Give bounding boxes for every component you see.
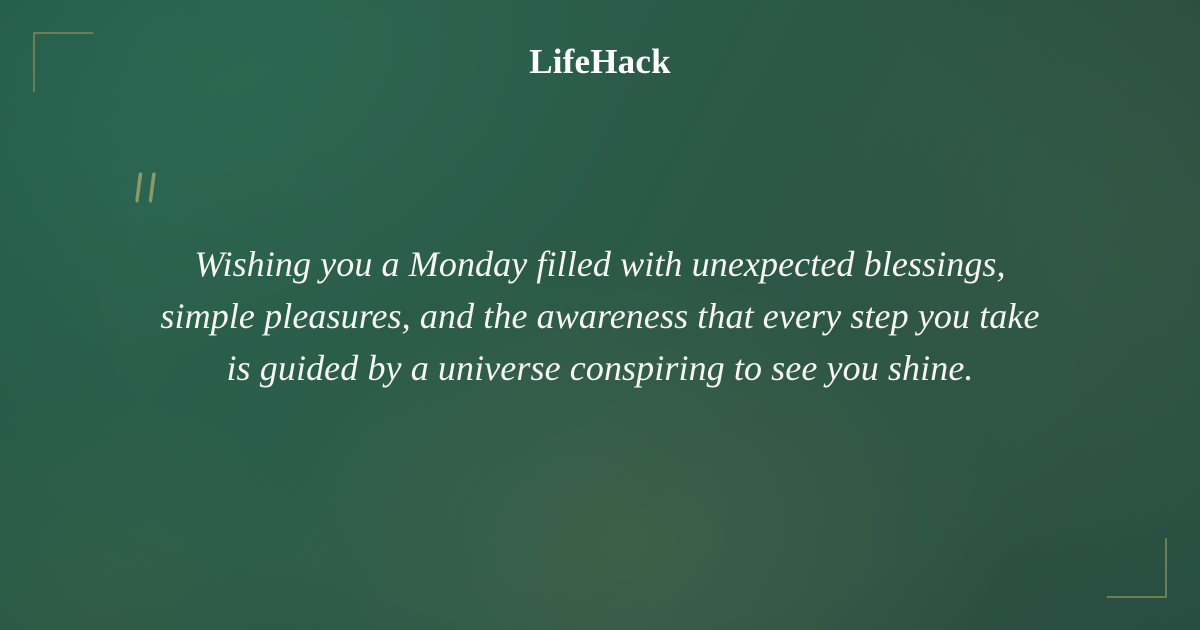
brand-logo: LifeHack [0, 40, 1200, 84]
quote-line: is guided by a universe conspiring to se… [80, 342, 1120, 394]
quote-text: Wishing you a Monday filled with unexpec… [80, 238, 1120, 394]
quote-card: LifeHack Wishing you a Monday filled wit… [0, 0, 1200, 630]
double-quote-icon [128, 168, 184, 224]
quote-line: Wishing you a Monday filled with unexpec… [80, 238, 1120, 290]
corner-bracket-bottom-right-icon [1107, 538, 1167, 598]
quote-line: simple pleasures, and the awareness that… [80, 290, 1120, 342]
